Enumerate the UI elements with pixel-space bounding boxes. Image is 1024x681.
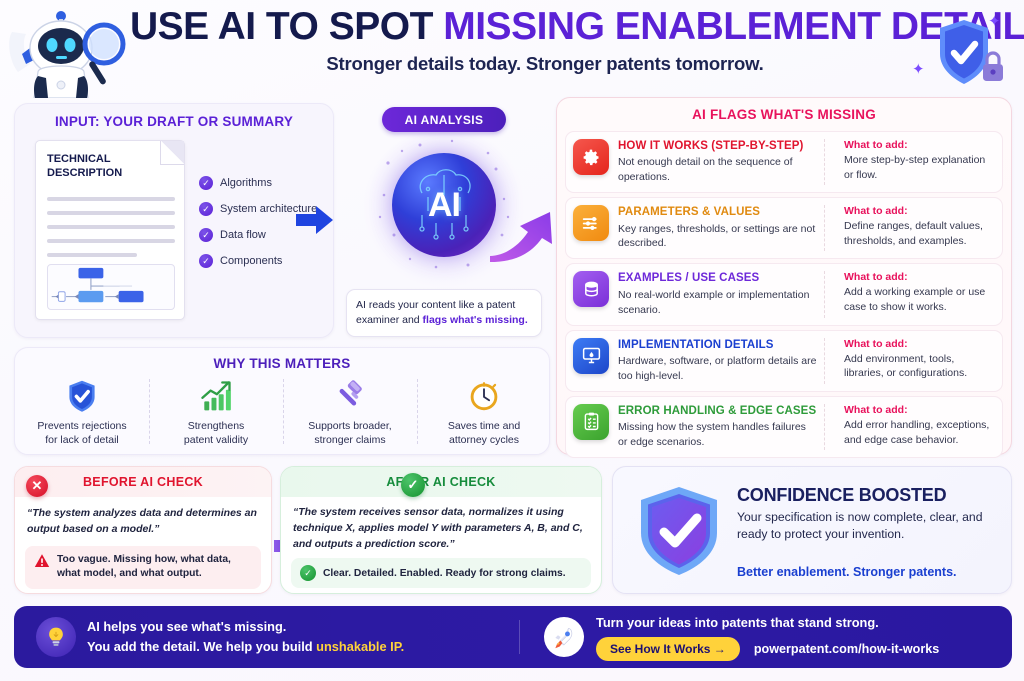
doc-text-line [47,197,175,201]
before-alert-text: Too vague. Missing how, what data, what … [57,553,252,582]
what-to-add-label: What to add: [844,205,994,217]
list-item-label: Algorithms [220,177,272,189]
why-line-1: Prevents rejections [37,420,126,432]
why-item-label: Prevents rejections for lack of detail [15,419,149,448]
flag-suggestion: What to add: Add environment, tools, lib… [834,338,994,382]
footer-left-line-2-pre: You add the detail. We help you build [87,639,316,654]
input-panel-title: INPUT: YOUR DRAFT OR SUMMARY [15,114,333,129]
why-item: Supports broader, stronger claims [283,377,417,448]
doc-heading-line-2: DESCRIPTION [47,167,122,179]
flag-heading: PARAMETERS & VALUES [618,205,818,219]
check-circle-icon: ✓ [199,254,213,268]
flag-suggestion: What to add: Add error handling, excepti… [834,404,994,448]
sparkle-icon: ✦ [912,60,925,78]
check-circle-icon: ✓ [199,202,213,216]
lightbulb-icon [36,617,76,657]
flag-main: EXAMPLES / USE CASES No real-world examp… [618,271,825,317]
flag-row[interactable]: IMPLEMENTATION DETAILS Hardware, softwar… [565,330,1003,392]
why-this-matters-panel: WHY THIS MATTERS Prevents rejections for… [14,347,550,455]
check-circle-icon: ✓ [199,228,213,242]
flag-main: HOW IT WORKS (STEP-BY-STEP) Not enough d… [618,139,825,185]
doc-text-line [47,225,175,229]
why-item-label: Saves time and attorney cycles [417,419,551,448]
why-line-2: patent validity [184,434,248,446]
before-quote: “The system analyzes data and determines… [15,497,271,538]
doc-text-line [47,253,137,257]
flag-heading: EXAMPLES / USE CASES [618,271,818,285]
footer-left-line-2-highlight: unshakable IP. [316,639,404,654]
list-item-label: Components [220,255,282,267]
before-ai-check-panel: BEFORE AI CHECK ✕ “The system analyzes d… [14,466,272,594]
why-line-2: stronger claims [314,434,385,446]
ai-flags-panel-title: AI FLAGS WHAT'S MISSING [557,107,1011,122]
what-to-add-label: What to add: [844,271,994,283]
rocket-icon [544,617,584,657]
check-circle-icon: ✓ [199,176,213,190]
flag-main: PARAMETERS & VALUES Key ranges, threshol… [618,205,825,251]
what-to-add-text: Add a working example or use case to sho… [844,285,994,315]
flag-main: ERROR HANDLING & EDGE CASES Missing how … [618,404,825,450]
see-how-it-works-button[interactable]: See How It Works → [596,637,740,661]
before-header: BEFORE AI CHECK [15,467,271,497]
footer-left: AI helps you see what's missing. You add… [14,617,519,657]
doc-text-line [47,211,175,215]
footer-right: Turn your ideas into patents that stand … [520,613,939,662]
check-circle-icon: ✓ [401,473,425,497]
shield-check-large-icon [631,483,727,579]
doc-heading: TECHNICAL DESCRIPTION [47,153,122,181]
ai-flags-panel: AI FLAGS WHAT'S MISSING HOW IT WORKS (ST… [556,97,1012,455]
bar-chart-growth-icon [149,377,283,415]
shield-check-icon [15,377,149,415]
title-part-1: USE AI TO SPOT [130,5,443,48]
footer-url[interactable]: powerpatent.com/how-it-works [754,642,939,656]
doc-flow-diagram [47,264,175,310]
what-to-add-label: What to add: [844,139,994,151]
flag-heading: HOW IT WORKS (STEP-BY-STEP) [618,139,818,153]
page-fold-corner [160,141,184,165]
why-line-1: Supports broader, [308,420,391,432]
list-item: ✓ Components [199,254,317,268]
what-to-add-label: What to add: [844,338,994,350]
gear-icon [573,139,609,175]
title-block: USE AI TO SPOT MISSING ENABLEMENT DETAIL… [130,6,960,75]
why-line-2: for lack of detail [45,434,119,446]
page-subtitle: Stronger details today. Stronger patents… [130,53,960,75]
why-line-1: Saves time and [448,420,520,432]
ai-note-highlight: flags what's missing. [423,314,528,326]
flag-main: IMPLEMENTATION DETAILS Hardware, softwar… [618,338,825,384]
ai-note-tooltip: AI reads your content like a patent exam… [346,289,542,337]
robot-with-magnifier-icon [4,2,128,98]
flag-body: Key ranges, thresholds, or settings are … [618,222,818,252]
footer-right-content: Turn your ideas into patents that stand … [596,613,939,662]
why-line-1: Strengthens [188,420,245,432]
why-item: Saves time and attorney cycles [417,377,551,448]
clipboard-check-icon [573,404,609,440]
why-item: Prevents rejections for lack of detail [15,377,149,448]
footer-left-text: AI helps you see what's missing. You add… [87,617,404,657]
why-item-label: Strengthens patent validity [149,419,283,448]
flag-suggestion: What to add: Define ranges, default valu… [834,205,994,249]
flag-row[interactable]: ERROR HANDLING & EDGE CASES Missing how … [565,396,1003,458]
page-title: USE AI TO SPOT MISSING ENABLEMENT DETAIL [130,6,960,47]
footer-right-line-1: Turn your ideas into patents that stand … [596,613,939,633]
why-item: Strengthens patent validity [149,377,283,448]
flag-row[interactable]: HOW IT WORKS (STEP-BY-STEP) Not enough d… [565,131,1003,193]
input-panel: INPUT: YOUR DRAFT OR SUMMARY TECHNICAL D… [14,103,334,338]
footer-bar: AI helps you see what's missing. You add… [14,606,1012,668]
confidence-boosted-panel: CONFIDENCE BOOSTED Your specification is… [612,466,1012,594]
flag-body: No real-world example or implementation … [618,288,818,318]
clock-icon [417,377,551,415]
footer-left-line-1: AI helps you see what's missing. [87,619,286,634]
before-title: BEFORE AI CHECK [83,475,203,489]
what-to-add-text: Add error handling, exceptions, and edge… [844,418,994,448]
flag-heading: IMPLEMENTATION DETAILS [618,338,818,352]
flag-row[interactable]: EXAMPLES / USE CASES No real-world examp… [565,263,1003,325]
infographic-page: USE AI TO SPOT MISSING ENABLEMENT DETAIL… [0,0,1024,681]
doc-text-line [47,239,175,243]
header: USE AI TO SPOT MISSING ENABLEMENT DETAIL… [0,0,1024,96]
before-alert: Too vague. Missing how, what data, what … [25,546,261,589]
what-to-add-text: Add environment, tools, libraries, or co… [844,352,994,382]
flag-heading: ERROR HANDLING & EDGE CASES [618,404,818,418]
check-circle-icon: ✓ [300,565,316,581]
flag-row[interactable]: PARAMETERS & VALUES Key ranges, threshol… [565,197,1003,259]
gavel-icon [283,377,417,415]
technical-description-document: TECHNICAL DESCRIPTION [35,140,185,320]
sparkle-icon: ✦ [988,12,1001,30]
sliders-icon [573,205,609,241]
what-to-add-text: More step-by-step explanation or flow. [844,153,994,183]
monitor-icon [573,338,609,374]
footer-cta-row: See How It Works → powerpatent.com/how-i… [596,637,939,661]
ai-orb-sphere: AI [392,153,496,257]
confidence-title: CONFIDENCE BOOSTED [737,485,946,506]
flag-suggestion: What to add: More step-by-step explanati… [834,139,994,183]
why-line-2: attorney cycles [449,434,519,446]
after-header: AFTER AI CHECK [281,467,601,497]
shield-check-lock-icon: ✦ ✦ [926,14,1010,92]
flag-body: Missing how the system handles failures … [618,420,818,450]
what-to-add-label: What to add: [844,404,994,416]
list-item-label: Data flow [220,229,266,241]
doc-heading-line-1: TECHNICAL [47,153,111,165]
flag-suggestion: What to add: Add a working example or us… [834,271,994,315]
arrow-right-blue-icon [296,205,334,235]
after-confirmation-text: Clear. Detailed. Enabled. Ready for stro… [323,568,566,579]
what-to-add-text: Define ranges, default values, threshold… [844,219,994,249]
after-quote: “The system receives sensor data, normal… [281,497,601,552]
why-items-row: Prevents rejections for lack of detail [15,377,551,448]
database-icon [573,271,609,307]
after-ai-check-panel: AFTER AI CHECK ✓ “The system receives se… [280,466,602,594]
flag-body: Not enough detail on the sequence of ope… [618,155,818,185]
warning-triangle-icon [34,553,50,569]
x-circle-icon: ✕ [26,475,48,497]
ai-flags-list: HOW IT WORKS (STEP-BY-STEP) Not enough d… [565,131,1003,458]
flag-body: Hardware, software, or platform details … [618,354,818,384]
arrow-curve-right-purple-icon [490,200,560,262]
confidence-tagline: Better enablement. Stronger patents. [737,565,957,579]
confidence-body: Your specification is now complete, clea… [737,509,995,544]
why-panel-title: WHY THIS MATTERS [15,356,549,371]
list-item: ✓ Algorithms [199,176,317,190]
after-confirmation: ✓ Clear. Detailed. Enabled. Ready for st… [291,558,591,588]
why-item-label: Supports broader, stronger claims [283,419,417,448]
